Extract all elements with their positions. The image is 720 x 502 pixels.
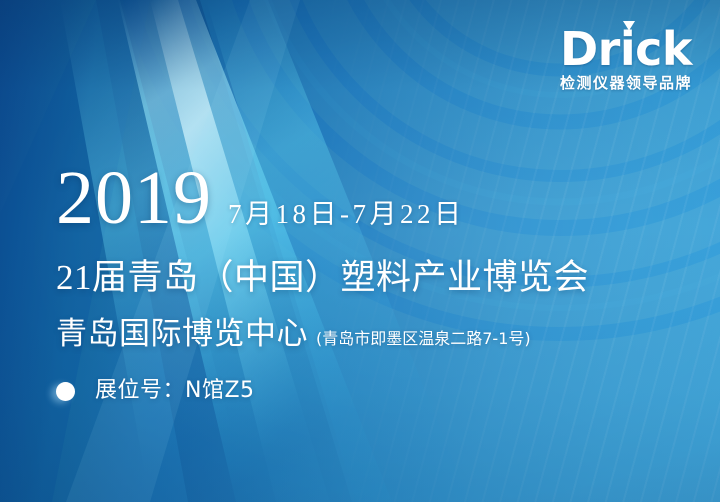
brand-wordmark: Drick bbox=[558, 26, 694, 72]
booth-number: 展位号：N馆Z5 bbox=[95, 379, 255, 403]
booth-row: 展位号：N馆Z5 bbox=[56, 379, 589, 403]
diamond-icon bbox=[622, 20, 637, 31]
headline-row: 2019 7月18日-7月22日 bbox=[56, 160, 589, 236]
event-date-range: 7月18日-7月22日 bbox=[228, 201, 465, 228]
exhibition-banner: Drick 检测仪器领导品牌 2019 7月18日-7月22日 21届青岛（中国… bbox=[0, 0, 720, 502]
venue-name: 青岛国际博览中心 bbox=[56, 317, 308, 351]
brand-logo: Drick 检测仪器领导品牌 bbox=[558, 26, 694, 92]
brand-tagline: 检测仪器领导品牌 bbox=[558, 74, 694, 92]
event-title: 21届青岛（中国）塑料产业博览会 bbox=[56, 258, 589, 298]
event-year: 2019 bbox=[56, 160, 212, 236]
venue-address: (青岛市即墨区温泉二路7-1号) bbox=[316, 329, 531, 349]
banner-content: 2019 7月18日-7月22日 21届青岛（中国）塑料产业博览会 青岛国际博览… bbox=[56, 160, 589, 403]
venue-row: 青岛国际博览中心 (青岛市即墨区温泉二路7-1号) bbox=[56, 317, 589, 351]
circle-bullet-icon bbox=[56, 382, 75, 401]
